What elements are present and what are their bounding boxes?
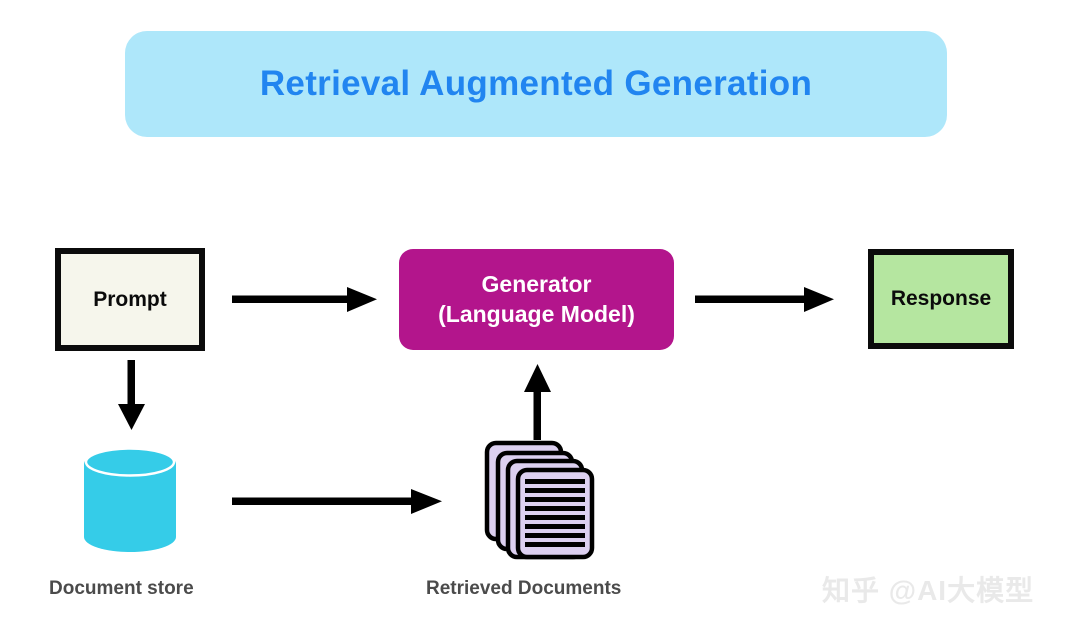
node-prompt: Prompt — [55, 248, 205, 351]
arrow-prompt-to-generator-icon — [232, 284, 382, 316]
arrow-retrieved-documents-to-generator-icon — [518, 362, 558, 440]
arrow-generator-to-response-icon — [695, 284, 845, 316]
diagram-canvas: Retrieval Augmented Generation Prompt Ge… — [0, 0, 1080, 636]
node-prompt-label: Prompt — [93, 288, 167, 312]
node-generator-label: Generator (Language Model) — [438, 270, 635, 329]
node-generator-line2: (Language Model) — [438, 301, 635, 327]
watermark: 知乎 @AI大模型 — [822, 569, 1034, 609]
node-response-label: Response — [891, 287, 991, 311]
node-response: Response — [868, 249, 1014, 349]
title-banner: Retrieval Augmented Generation — [125, 31, 947, 137]
arrow-document-store-to-retrieved-documents-icon — [232, 486, 457, 518]
arrow-prompt-to-document-store-icon — [112, 360, 152, 432]
document-stack-icon — [484, 440, 596, 560]
node-generator-line1: Generator — [482, 271, 592, 297]
caption-document-store: Document store — [49, 578, 194, 600]
caption-retrieved-documents: Retrieved Documents — [426, 578, 621, 600]
node-generator: Generator (Language Model) — [399, 249, 674, 350]
database-cylinder-icon — [82, 448, 178, 553]
page-title: Retrieval Augmented Generation — [260, 64, 812, 104]
